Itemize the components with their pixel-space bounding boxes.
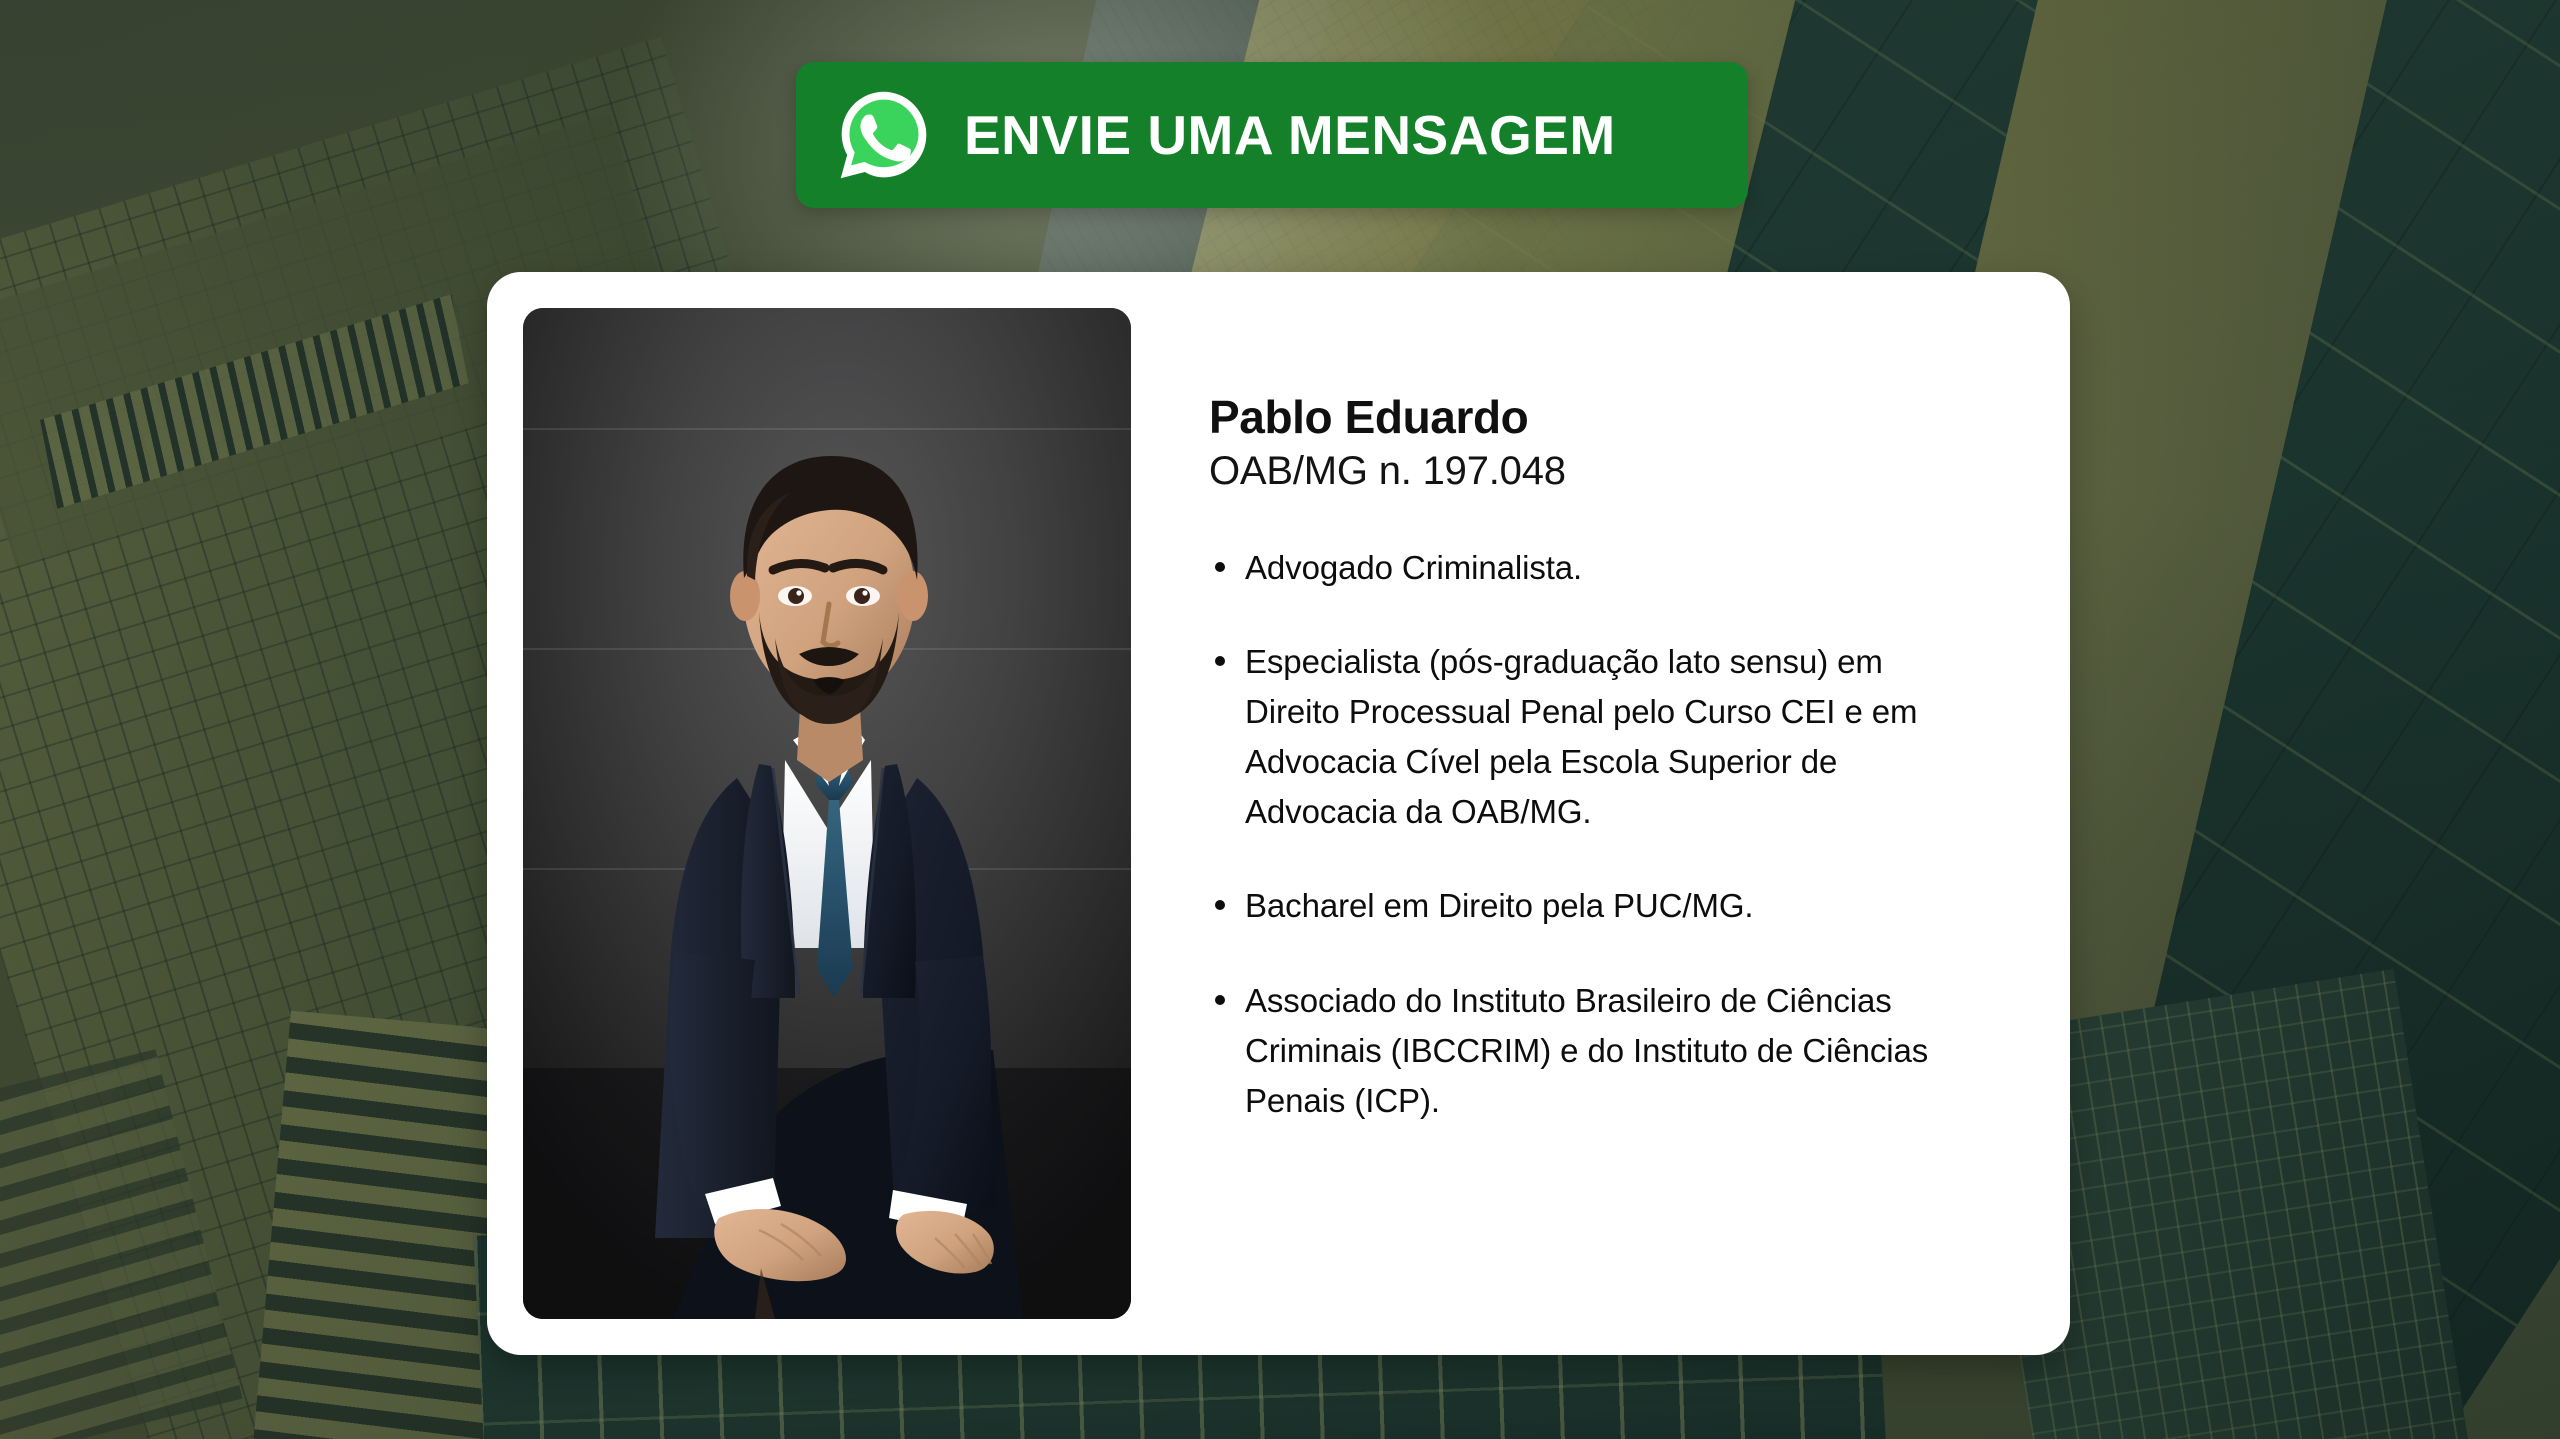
portrait-illustration (523, 308, 1131, 1319)
credential-item: Associado do Instituto Brasileiro de Ciê… (1209, 976, 1969, 1126)
credential-item: Advogado Criminalista. (1209, 543, 1969, 593)
whatsapp-cta-label: ENVIE UMA MENSAGEM (964, 108, 1616, 163)
credential-item: Bacharel em Direito pela PUC/MG. (1209, 881, 1969, 931)
profile-registration: OAB/MG n. 197.048 (1209, 448, 1976, 495)
whatsapp-icon (838, 89, 930, 181)
credentials-list: Advogado Criminalista. Especialista (pós… (1209, 543, 1976, 1126)
profile-info: Pablo Eduardo OAB/MG n. 197.048 Advogado… (1131, 308, 2034, 1319)
profile-card: Pablo Eduardo OAB/MG n. 197.048 Advogado… (487, 272, 2070, 1355)
whatsapp-cta-button[interactable]: ENVIE UMA MENSAGEM (796, 62, 1748, 208)
profile-name: Pablo Eduardo (1209, 392, 1976, 444)
profile-photo (523, 308, 1131, 1319)
credential-item: Especialista (pós-graduação lato sensu) … (1209, 637, 1969, 838)
page-root: ENVIE UMA MENSAGEM (0, 0, 2560, 1439)
